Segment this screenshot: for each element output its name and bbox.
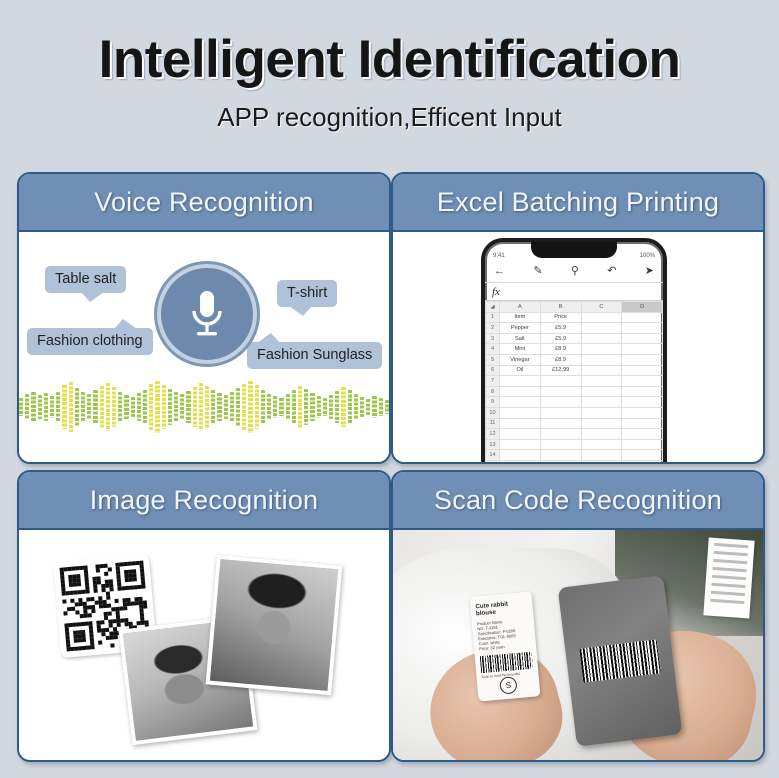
cell-a[interactable]: Item — [500, 312, 541, 323]
waveform-bar — [279, 398, 283, 416]
card-excel-batching-printing[interactable]: Excel Batching Printing 9:41 100% ← ✎ ⚲ … — [391, 172, 765, 464]
row-header[interactable]: 2 — [486, 323, 500, 334]
waveform-bar — [341, 387, 345, 427]
table-row[interactable]: 1ItemPrice — [486, 312, 663, 323]
cell-b[interactable] — [540, 397, 581, 408]
cell-c[interactable] — [581, 439, 622, 450]
waveform-bar — [118, 392, 122, 422]
cell-d[interactable] — [622, 397, 663, 408]
cell-d[interactable] — [622, 323, 663, 334]
table-row[interactable]: 3Salt£5.9 — [486, 333, 663, 344]
row-header[interactable]: 9 — [486, 397, 500, 408]
waveform-bar — [323, 398, 327, 416]
card-title: Image Recognition — [90, 485, 319, 516]
cell-c[interactable] — [581, 429, 622, 440]
cell-b[interactable] — [540, 376, 581, 387]
formula-bar[interactable]: fx — [485, 283, 663, 301]
waveform-bar — [329, 395, 333, 419]
waveform-bar — [354, 394, 358, 420]
waveform-bar — [100, 386, 104, 428]
table-row[interactable]: 11 — [486, 418, 663, 429]
cell-a[interactable]: Vinegar — [500, 354, 541, 365]
cell-d[interactable] — [622, 312, 663, 323]
waveform-bar — [360, 397, 364, 417]
photo-boy-right — [206, 555, 343, 695]
cell-c[interactable] — [581, 365, 622, 376]
waveform-bar — [310, 393, 314, 421]
waveform-bar — [292, 390, 296, 424]
cell-c[interactable] — [581, 397, 622, 408]
cell-c[interactable] — [581, 386, 622, 397]
waveform-bar — [335, 391, 339, 423]
cell-b[interactable]: £12.99 — [540, 365, 581, 376]
row-header[interactable]: 8 — [486, 386, 500, 397]
share-icon[interactable]: ➤ — [645, 266, 654, 277]
row-header[interactable]: 1 — [486, 312, 500, 323]
waveform-bar — [304, 389, 308, 425]
waveform-bar — [38, 395, 42, 419]
microphone-button[interactable] — [157, 264, 257, 364]
cell-a[interactable] — [500, 429, 541, 440]
cell-c[interactable] — [581, 312, 622, 323]
cell-d[interactable] — [622, 460, 663, 462]
price-tag-strip — [703, 538, 754, 619]
cell-d[interactable] — [622, 386, 663, 397]
barcode-scan-overlay — [579, 639, 661, 682]
undo-icon[interactable]: ↶ — [607, 266, 616, 277]
cell-c[interactable] — [581, 323, 622, 334]
table-row[interactable]: 4Mint£8.9 — [486, 344, 663, 355]
phone-mockup: 9:41 100% ← ✎ ⚲ ↶ ➤ fx ◢ — [481, 238, 667, 462]
waveform-bar — [168, 389, 172, 425]
cell-a[interactable]: Salt — [500, 333, 541, 344]
cell-b[interactable] — [540, 407, 581, 418]
column-header-a[interactable]: A — [500, 302, 541, 313]
waveform-bar — [230, 392, 234, 422]
cell-b[interactable] — [540, 460, 581, 462]
pencil-icon[interactable]: ✎ — [533, 266, 542, 277]
hang-tag-details: Product NameNO: T-3261Specification: F-0… — [477, 617, 531, 651]
waveform-bar — [193, 387, 197, 427]
spreadsheet-toolbar[interactable]: ← ✎ ⚲ ↶ ➤ — [485, 260, 663, 283]
cell-d[interactable] — [622, 429, 663, 440]
table-row[interactable]: 6Oil£12.99 — [486, 365, 663, 376]
hang-tag-label: Cute rabbit blouse Product NameNO: T-326… — [470, 592, 541, 702]
cell-b[interactable] — [540, 418, 581, 429]
row-header[interactable]: 3 — [486, 333, 500, 344]
cell-c[interactable] — [581, 344, 622, 355]
waveform-bar — [149, 384, 153, 430]
waveform-bar — [348, 390, 352, 424]
corner-select-all[interactable]: ◢ — [486, 302, 500, 313]
column-header-b[interactable]: B — [540, 302, 581, 313]
back-arrow-icon[interactable]: ← — [494, 266, 505, 277]
card-body-image-recognition — [19, 530, 389, 760]
cell-a[interactable]: Pepper — [500, 323, 541, 334]
waveform-bar — [261, 390, 265, 424]
cell-b[interactable]: £8.9 — [540, 344, 581, 355]
waveform-bar — [124, 395, 128, 419]
waveform-bar — [19, 398, 23, 416]
waveform-bar — [69, 382, 73, 432]
cell-d[interactable] — [622, 344, 663, 355]
waveform-bar — [155, 381, 159, 433]
cell-a[interactable] — [500, 397, 541, 408]
face-image — [210, 559, 338, 691]
column-header-c[interactable]: C — [581, 302, 622, 313]
cell-d[interactable] — [622, 450, 663, 461]
status-time: 9:41 — [493, 253, 505, 259]
table-header-row: ◢ A B C D — [486, 302, 663, 313]
cell-c[interactable] — [581, 418, 622, 429]
waveform-bar — [372, 396, 376, 418]
row-header[interactable]: 7 — [486, 376, 500, 387]
table-row[interactable]: 13 — [486, 439, 663, 450]
waveform-bar — [137, 393, 141, 421]
waveform-bar — [286, 394, 290, 420]
cell-d[interactable] — [622, 333, 663, 344]
card-title: Voice Recognition — [94, 187, 314, 218]
table-row[interactable]: 10 — [486, 407, 663, 418]
cell-b[interactable] — [540, 429, 581, 440]
card-body-excel-batching-printing: 9:41 100% ← ✎ ⚲ ↶ ➤ fx ◢ — [393, 232, 763, 462]
row-header[interactable]: 10 — [486, 407, 500, 418]
waveform-bar — [186, 391, 190, 423]
waveform-bar — [248, 381, 252, 433]
cell-b[interactable]: Price — [540, 312, 581, 323]
cell-c[interactable] — [581, 407, 622, 418]
page-header: Intelligent Identification APP recogniti… — [0, 0, 779, 133]
cell-b[interactable]: £8.9 — [540, 354, 581, 365]
row-header[interactable]: 12 — [486, 429, 500, 440]
cell-c[interactable] — [581, 376, 622, 387]
card-header-voice-recognition: Voice Recognition — [19, 174, 389, 232]
speech-bubble-fashion-clothing: Fashion clothing — [27, 328, 153, 355]
cell-b[interactable]: £5.9 — [540, 333, 581, 344]
waveform-bar — [25, 394, 29, 420]
page-subtitle: APP recognition,Efficent Input — [0, 102, 779, 133]
waveform-bar — [162, 385, 166, 429]
cell-b[interactable] — [540, 450, 581, 461]
microphone-icon — [186, 287, 228, 341]
waveform-bar — [44, 393, 48, 421]
waveform-bar — [87, 394, 91, 420]
cell-d[interactable] — [622, 354, 663, 365]
waveform-bar — [50, 396, 54, 418]
cell-b[interactable] — [540, 386, 581, 397]
table-row[interactable]: 12 — [486, 429, 663, 440]
cell-a[interactable] — [500, 376, 541, 387]
cell-b[interactable] — [540, 439, 581, 450]
row-header[interactable]: 11 — [486, 418, 500, 429]
cell-d[interactable] — [622, 418, 663, 429]
waveform-bar — [379, 398, 383, 416]
waveform-bar — [242, 384, 246, 430]
waveform-bar — [236, 388, 240, 426]
row-header[interactable]: 15 — [486, 460, 500, 462]
cell-d[interactable] — [622, 439, 663, 450]
waveform-bar — [180, 394, 184, 420]
spreadsheet-body: 1ItemPrice2Pepper£5.93Salt£5.94Mint£8.95… — [486, 312, 663, 462]
waveform-bar — [217, 393, 221, 421]
cell-a[interactable] — [500, 407, 541, 418]
speech-bubble-fashion-sunglass: Fashion Sunglass — [247, 342, 382, 369]
table-row[interactable]: 2Pepper£5.9 — [486, 323, 663, 334]
waveform-bar — [385, 400, 389, 414]
card-title: Scan Code Recognition — [434, 485, 722, 516]
speech-bubble-t-shirt: T-shirt — [277, 280, 337, 307]
cell-a[interactable]: Oil — [500, 365, 541, 376]
table-row[interactable]: 8 — [486, 386, 663, 397]
cell-d[interactable] — [622, 376, 663, 387]
hang-tag-title: Cute rabbit blouse — [476, 599, 529, 617]
size-badge: S — [500, 677, 518, 695]
audio-waveform-icon — [19, 376, 389, 438]
scan-scene-photo: Cute rabbit blouse Product NameNO: T-326… — [393, 530, 763, 760]
card-voice-recognition[interactable]: Voice Recognition Table salt T-shirt Fas… — [17, 172, 391, 464]
cell-a[interactable] — [500, 450, 541, 461]
waveform-bar — [298, 386, 302, 428]
table-row[interactable]: 14 — [486, 450, 663, 461]
card-title: Excel Batching Printing — [437, 187, 719, 218]
row-header[interactable]: 13 — [486, 439, 500, 450]
waveform-bar — [267, 394, 271, 420]
card-body-scan-code-recognition: Cute rabbit blouse Product NameNO: T-326… — [393, 530, 763, 760]
cell-c[interactable] — [581, 354, 622, 365]
row-header[interactable]: 4 — [486, 344, 500, 355]
page-title: Intelligent Identification — [0, 30, 779, 90]
row-header[interactable]: 5 — [486, 354, 500, 365]
cell-d[interactable] — [622, 407, 663, 418]
waveform-bar — [174, 392, 178, 422]
waveform-bar — [199, 383, 203, 431]
cell-a[interactable]: Mint — [500, 344, 541, 355]
table-row[interactable]: 15 — [486, 460, 663, 462]
cell-d[interactable] — [622, 365, 663, 376]
card-scan-code-recognition[interactable]: Scan Code Recognition Cute rabbit blouse… — [391, 470, 765, 762]
row-header[interactable]: 14 — [486, 450, 500, 461]
card-header-scan-code-recognition: Scan Code Recognition — [393, 472, 763, 530]
cell-a[interactable] — [500, 386, 541, 397]
waveform-bar — [211, 390, 215, 424]
cell-b[interactable]: £5.9 — [540, 323, 581, 334]
waveform-bar — [75, 388, 79, 426]
search-icon[interactable]: ⚲ — [571, 266, 579, 277]
row-header[interactable]: 6 — [486, 365, 500, 376]
status-battery: 100% — [640, 253, 655, 259]
card-body-voice-recognition: Table salt T-shirt Fashion clothing Fash… — [19, 232, 389, 462]
cell-a[interactable] — [500, 418, 541, 429]
waveform-bar — [81, 392, 85, 422]
waveform-bar — [106, 383, 110, 431]
waveform-bar — [143, 390, 147, 424]
waveform-bar — [224, 395, 228, 419]
feature-card-grid: Voice Recognition Table salt T-shirt Fas… — [17, 172, 762, 762]
cell-c[interactable] — [581, 450, 622, 461]
waveform-bar — [273, 396, 277, 418]
waveform-bar — [255, 385, 259, 429]
scanning-phone[interactable] — [558, 575, 683, 747]
formula-label: fx — [492, 286, 500, 298]
cell-c[interactable] — [581, 460, 622, 462]
table-row[interactable]: 5Vinegar£8.9 — [486, 354, 663, 365]
phone-notch — [531, 242, 617, 258]
waveform-bar — [317, 396, 321, 418]
waveform-bar — [112, 387, 116, 427]
waveform-bar — [31, 392, 35, 422]
table-row[interactable]: 9 — [486, 397, 663, 408]
cell-a[interactable] — [500, 460, 541, 462]
card-header-excel-batching-printing: Excel Batching Printing — [393, 174, 763, 232]
card-image-recognition[interactable]: Image Recognition — [17, 470, 391, 762]
waveform-bar — [56, 392, 60, 422]
table-row[interactable]: 7 — [486, 376, 663, 387]
waveform-bar — [131, 397, 135, 417]
waveform-bar — [366, 399, 370, 415]
cell-a[interactable] — [500, 439, 541, 450]
waveform-bar — [62, 385, 66, 429]
cell-c[interactable] — [581, 333, 622, 344]
waveform-bar — [205, 386, 209, 428]
speech-bubble-table-salt: Table salt — [45, 266, 126, 293]
spreadsheet-table[interactable]: ◢ A B C D 1ItemPrice2Pepper£5.93Salt£5.9… — [485, 301, 663, 462]
column-header-d[interactable]: D — [622, 302, 663, 313]
waveform-bar — [93, 390, 97, 424]
card-header-image-recognition: Image Recognition — [19, 472, 389, 530]
